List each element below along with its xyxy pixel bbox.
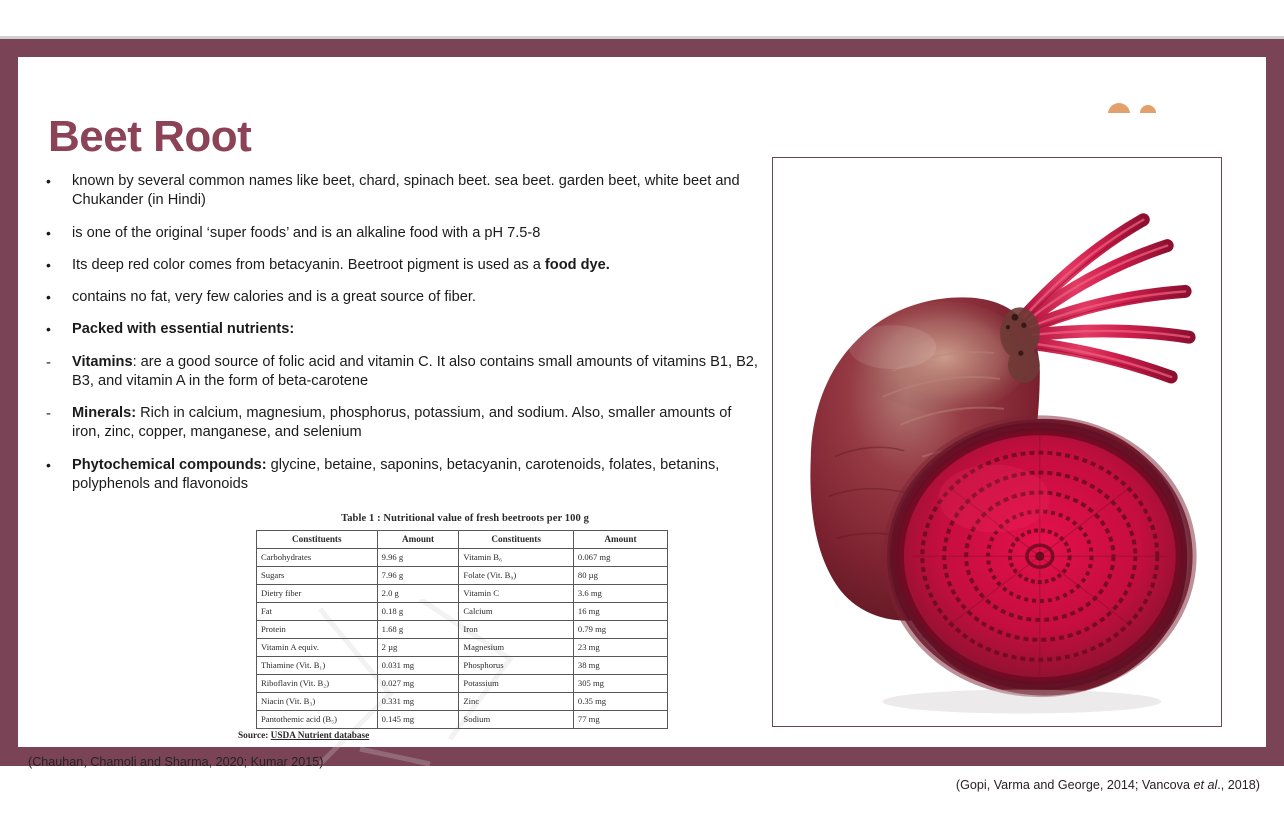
column-header: Constituents <box>257 531 378 549</box>
list-item: • contains no fat, very few calories and… <box>40 288 760 307</box>
slide-frame: Beet Root • known by several common name… <box>0 36 1284 766</box>
table-cell: 38 mg <box>573 657 667 675</box>
table-cell: Niacin (Vit. B₃) <box>257 693 378 711</box>
list-item-text: Packed with essential nutrients: <box>72 320 760 339</box>
table-source: Source: USDA Nutrient database <box>238 731 680 741</box>
list-item: - Vitamins: are a good source of folic a… <box>40 353 760 392</box>
table-cell: Riboflavin (Vit. B₂) <box>257 675 378 693</box>
list-item-text: contains no fat, very few calories and i… <box>72 288 760 307</box>
bullet-marker-icon: • <box>40 256 72 275</box>
table-row: Protein1.68 gIron0.79 mg <box>257 621 668 639</box>
table-cell: 80 µg <box>573 567 667 585</box>
bullet-marker-icon: • <box>40 456 72 495</box>
bullet-marker-icon: • <box>40 224 72 243</box>
table-cell: 2 µg <box>377 639 459 657</box>
list-item-text-plain: : are a good source of folic acid and vi… <box>72 354 758 389</box>
table-row: Fat0.18 gCalcium16 mg <box>257 603 668 621</box>
table-source-link[interactable]: USDA Nutrient database <box>271 731 370 741</box>
list-item-text: Minerals: Rich in calcium, magnesium, ph… <box>72 404 760 443</box>
table-cell: 305 mg <box>573 675 667 693</box>
citation-left: (Chauhan, Chamoli and Sharma, 2020; Kuma… <box>28 755 323 769</box>
list-item: • is one of the original ‘super foods’ a… <box>40 224 760 243</box>
citation-right-pre: (Gopi, Varma and George, 2014; Vancova <box>956 778 1194 792</box>
bullet-marker-icon: • <box>40 320 72 339</box>
table-row: Thiamine (Vit. B₁)0.031 mgPhosphorus38 m… <box>257 657 668 675</box>
column-header: Amount <box>573 531 667 549</box>
table-row: Pantothemic acid (B₅)0.145 mgSodium77 mg <box>257 711 668 729</box>
citation-right-post: ., 2018) <box>1217 778 1260 792</box>
table-row: Vitamin A equiv.2 µgMagnesium23 mg <box>257 639 668 657</box>
table-cell: Vitamin B₆ <box>459 549 574 567</box>
table-cell: 0.067 mg <box>573 549 667 567</box>
table-cell: Folate (Vit. B₉) <box>459 567 574 585</box>
bullet-marker-icon: • <box>40 172 72 211</box>
nutrition-table: Constituents Amount Constituents Amount … <box>256 530 668 729</box>
list-item: - Minerals: Rich in calcium, magnesium, … <box>40 404 760 443</box>
table-cell: 3.6 mg <box>573 585 667 603</box>
list-item-text: Its deep red color comes from betacyanin… <box>72 256 760 275</box>
table-cell: 9.96 g <box>377 549 459 567</box>
nutrition-table-block: Table 1 : Nutritional value of fresh bee… <box>250 513 680 741</box>
table-cell: Potassium <box>459 675 574 693</box>
table-cell: 0.027 mg <box>377 675 459 693</box>
table-cell: Zinc <box>459 693 574 711</box>
list-item-lead: Phytochemical compounds: <box>72 457 267 473</box>
table-cell: 7.96 g <box>377 567 459 585</box>
table-cell: 0.18 g <box>377 603 459 621</box>
table-row: Niacin (Vit. B₃)0.331 mgZinc0.35 mg <box>257 693 668 711</box>
list-item-lead: Vitamins <box>72 354 133 370</box>
table-cell: Sodium <box>459 711 574 729</box>
list-item-text: Phytochemical compounds: glycine, betain… <box>72 456 760 495</box>
dash-marker-icon: - <box>40 353 72 392</box>
table-cell: 2.0 g <box>377 585 459 603</box>
table-cell: Vitamin A equiv. <box>257 639 378 657</box>
list-item-text-plain: Its deep red color comes from betacyanin… <box>72 257 545 273</box>
table-row: Riboflavin (Vit. B₂)0.027 mgPotassium305… <box>257 675 668 693</box>
table-cell: Protein <box>257 621 378 639</box>
table-cell: Pantothemic acid (B₅) <box>257 711 378 729</box>
table-row: Sugars7.96 gFolate (Vit. B₉)80 µg <box>257 567 668 585</box>
list-item: • Its deep red color comes from betacyan… <box>40 256 760 275</box>
table-cell: 0.031 mg <box>377 657 459 675</box>
table-cell: 0.35 mg <box>573 693 667 711</box>
table-cell: 1.68 g <box>377 621 459 639</box>
list-item-emphasis: food dye. <box>545 257 610 273</box>
table-cell: Magnesium <box>459 639 574 657</box>
column-header: Constituents <box>459 531 574 549</box>
table-cell: Phosphorus <box>459 657 574 675</box>
table-cell: Carbohydrates <box>257 549 378 567</box>
list-item-lead: Packed with essential nutrients: <box>72 321 294 337</box>
table-cell: 23 mg <box>573 639 667 657</box>
list-item-text: is one of the original ‘super foods’ and… <box>72 224 760 243</box>
table-cell: 16 mg <box>573 603 667 621</box>
dash-marker-icon: - <box>40 404 72 443</box>
list-item-text: Vitamins: are a good source of folic aci… <box>72 353 760 392</box>
table-cell: Vitamin C <box>459 585 574 603</box>
citation-right: (Gopi, Varma and George, 2014; Vancova e… <box>956 778 1260 792</box>
list-item: • known by several common names like bee… <box>40 172 760 211</box>
page-title: Beet Root <box>48 115 251 159</box>
list-item-text-plain: Rich in calcium, magnesium, phosphorus, … <box>72 405 731 440</box>
table-cell: Thiamine (Vit. B₁) <box>257 657 378 675</box>
beetroot-image-frame <box>772 157 1222 727</box>
table-row: Carbohydrates9.96 gVitamin B₆0.067 mg <box>257 549 668 567</box>
bullet-marker-icon: • <box>40 288 72 307</box>
table-cell: Dietry fiber <box>257 585 378 603</box>
partial-logo-icon <box>1108 97 1164 113</box>
table-cell: Fat <box>257 603 378 621</box>
list-item: • Phytochemical compounds: glycine, beta… <box>40 456 760 495</box>
table-caption: Table 1 : Nutritional value of fresh bee… <box>250 513 680 524</box>
list-item-text: known by several common names like beet,… <box>72 172 760 211</box>
table-cell: 77 mg <box>573 711 667 729</box>
list-item: • Packed with essential nutrients: <box>40 320 760 339</box>
table-body: Carbohydrates9.96 gVitamin B₆0.067 mgSug… <box>257 549 668 729</box>
table-cell: Iron <box>459 621 574 639</box>
bullet-list: • known by several common names like bee… <box>40 172 760 505</box>
table-cell: Calcium <box>459 603 574 621</box>
table-cell: 0.79 mg <box>573 621 667 639</box>
beetroot-photo <box>773 158 1221 725</box>
table-cell: 0.145 mg <box>377 711 459 729</box>
table-cell: Sugars <box>257 567 378 585</box>
table-header-row: Constituents Amount Constituents Amount <box>257 531 668 549</box>
table-cell: 0.331 mg <box>377 693 459 711</box>
column-header: Amount <box>377 531 459 549</box>
citation-right-italic: et al <box>1193 778 1217 792</box>
table-row: Dietry fiber2.0 gVitamin C3.6 mg <box>257 585 668 603</box>
table-source-label: Source: <box>238 731 271 741</box>
list-item-lead: Minerals: <box>72 405 136 421</box>
